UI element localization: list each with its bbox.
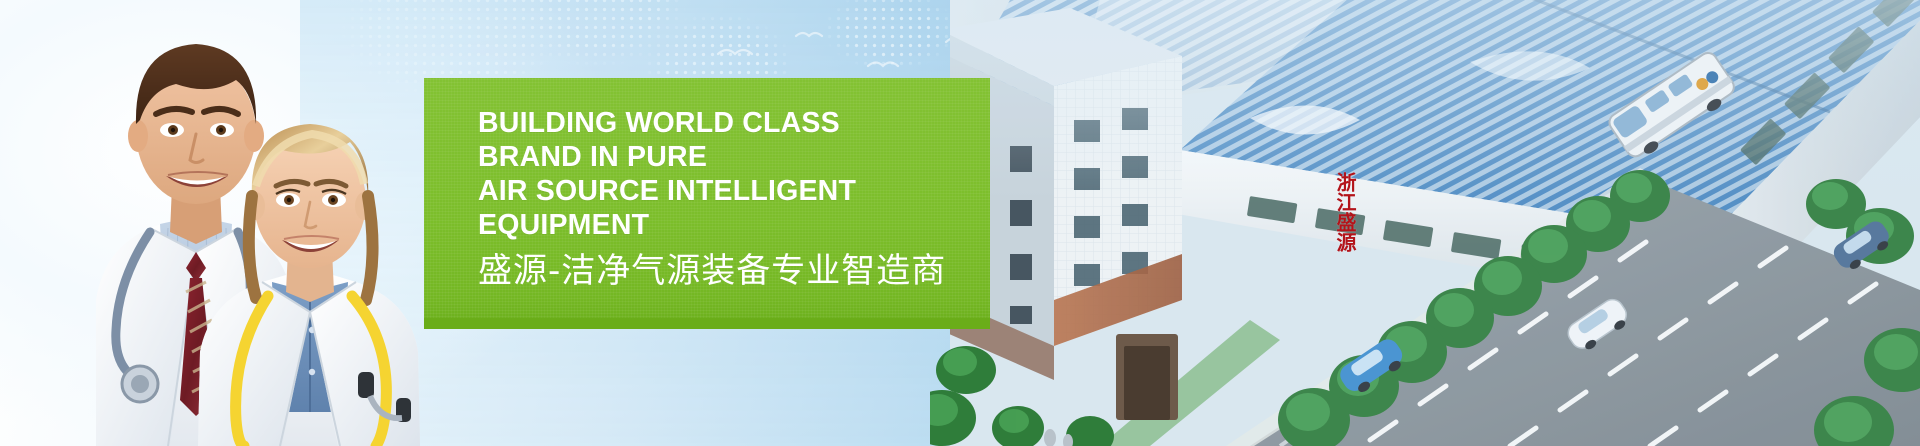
doctors-photo [0, 0, 470, 446]
slogan-english: BUILDING WORLD CLASS BRAND IN PURE AIR S… [478, 106, 978, 242]
slogan-chinese: 盛源-洁净气源装备专业智造商 [478, 250, 946, 292]
building-vertical-sign: 浙江盛源 [1332, 172, 1358, 252]
hero-banner: BUILDING WORLD CLASS BRAND IN PURE AIR S… [0, 0, 1920, 446]
slogan-panel: BUILDING WORLD CLASS BRAND IN PURE AIR S… [424, 78, 990, 329]
building-entrance-plaza [930, 250, 1350, 446]
